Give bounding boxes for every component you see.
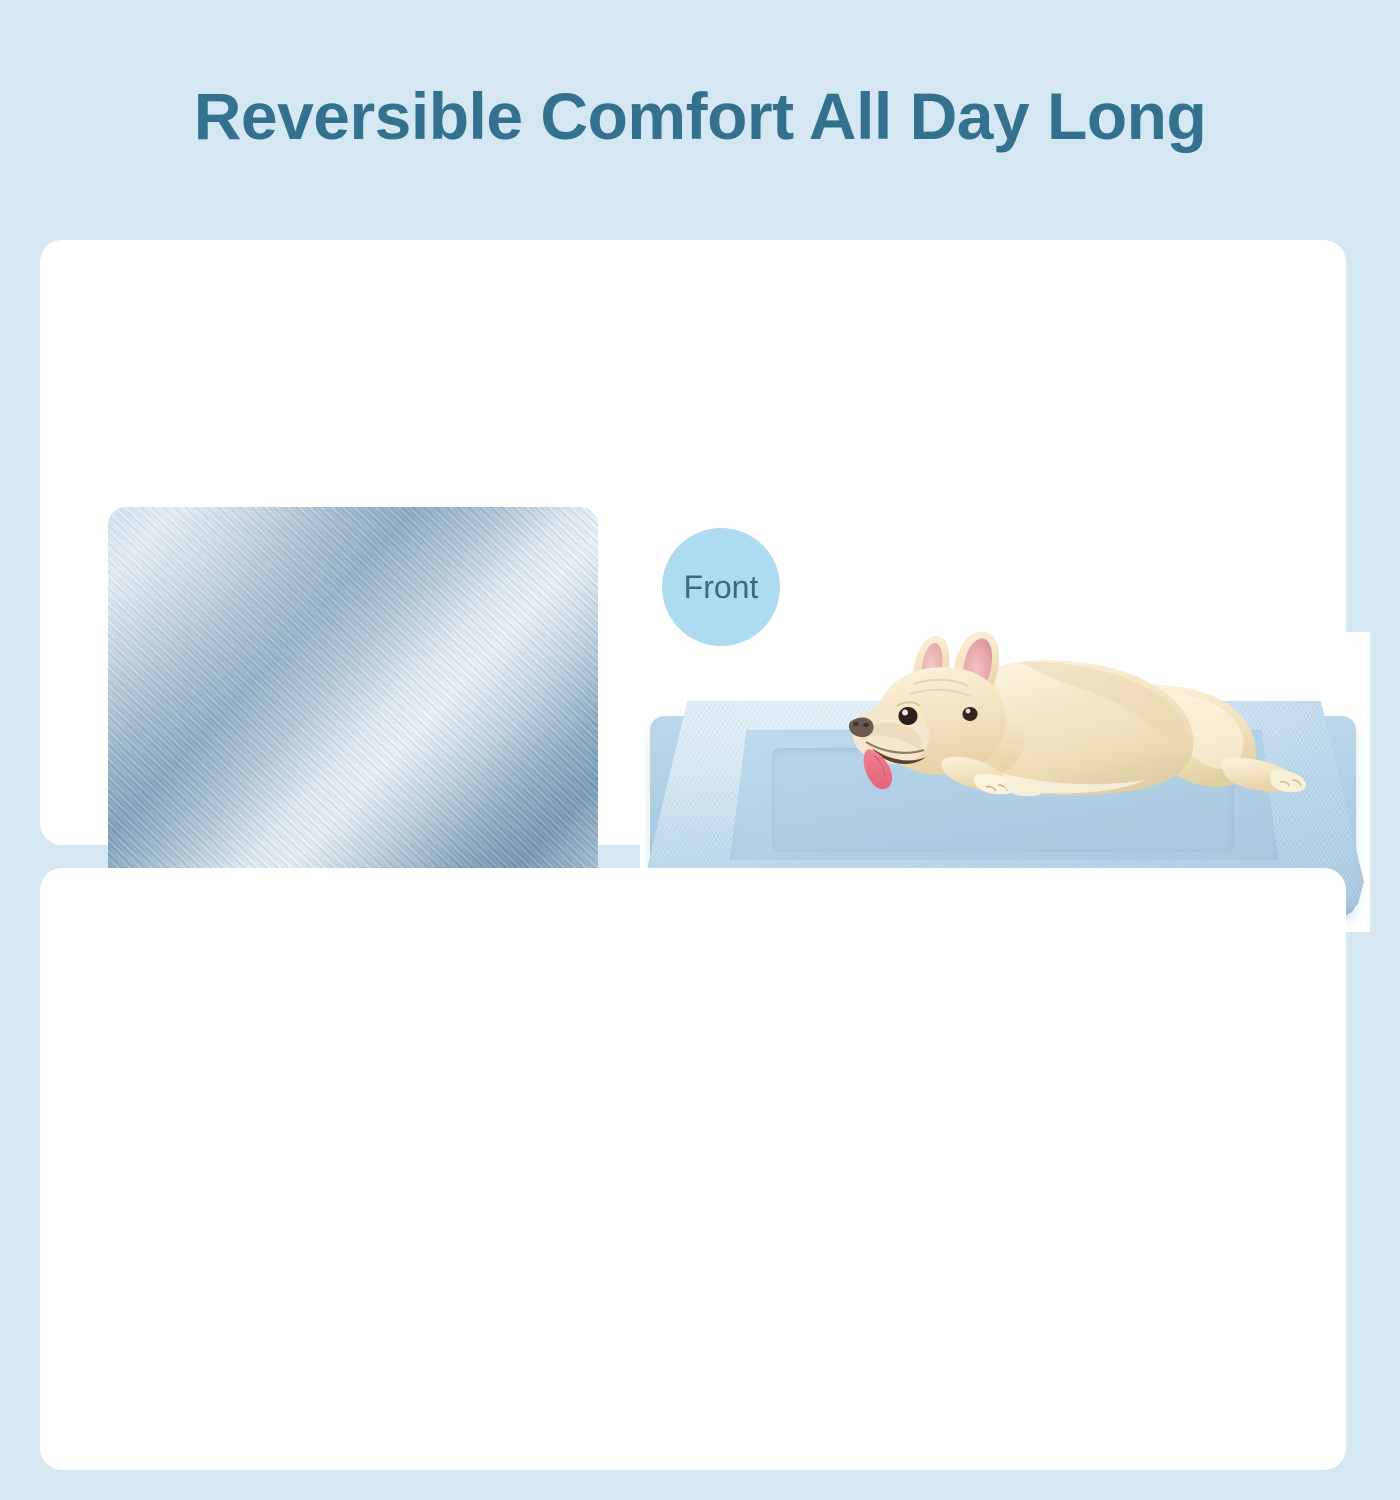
feature-card-back: Back Textured Faux-linen Fabric: Ensures…	[40, 868, 1346, 1470]
badge-front: Front	[662, 528, 780, 646]
french-bulldog-side-view	[810, 632, 1310, 860]
page-title: Reversible Comfort All Day Long	[0, 78, 1400, 154]
feature-card-front: Front Cozy Faux Fur: Keeps your puppy wa…	[40, 240, 1346, 845]
infographic-page: Reversible Comfort All Day Long	[0, 0, 1400, 1500]
